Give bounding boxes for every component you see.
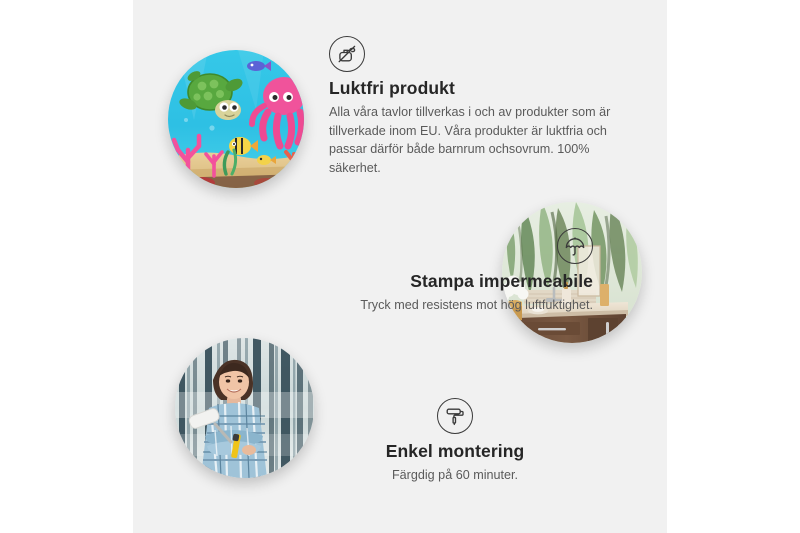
content-panel: Luktfri produkt Alla våra tavlor tillver…: [133, 0, 667, 533]
product-photo-underwater-scene[interactable]: [168, 50, 304, 188]
paint-roller-icon: [437, 398, 473, 434]
feature-block-waterproof: Stampa impermeabile Tryck med resistens …: [213, 228, 593, 315]
feature-title-easy-mount: Enkel montering: [315, 441, 595, 463]
feature-title-waterproof: Stampa impermeabile: [213, 271, 593, 293]
feature-block-easy-mount: Enkel montering Färgdig på 60 minuter.: [315, 398, 595, 485]
feature-block-odourless: Luktfri produkt Alla våra tavlor tillver…: [329, 36, 629, 177]
no-perfume-bottle-icon: [329, 36, 365, 72]
feature-body-odourless: Alla våra tavlor tillverkas i och av pro…: [329, 103, 629, 178]
feature-body-waterproof: Tryck med resistens mot hög luftfuktighe…: [213, 296, 593, 315]
woman-paint-roller-forest-photo: [175, 338, 314, 478]
product-photo-woman-paint-roller-forest[interactable]: [175, 338, 314, 478]
underwater-scene-illustration: [168, 50, 304, 188]
feature-title-odourless: Luktfri produkt: [329, 78, 629, 100]
page-root: Luktfri produkt Alla våra tavlor tillver…: [0, 0, 800, 533]
feature-body-easy-mount: Färgdig på 60 minuter.: [315, 466, 595, 485]
umbrella-icon: [557, 228, 593, 264]
